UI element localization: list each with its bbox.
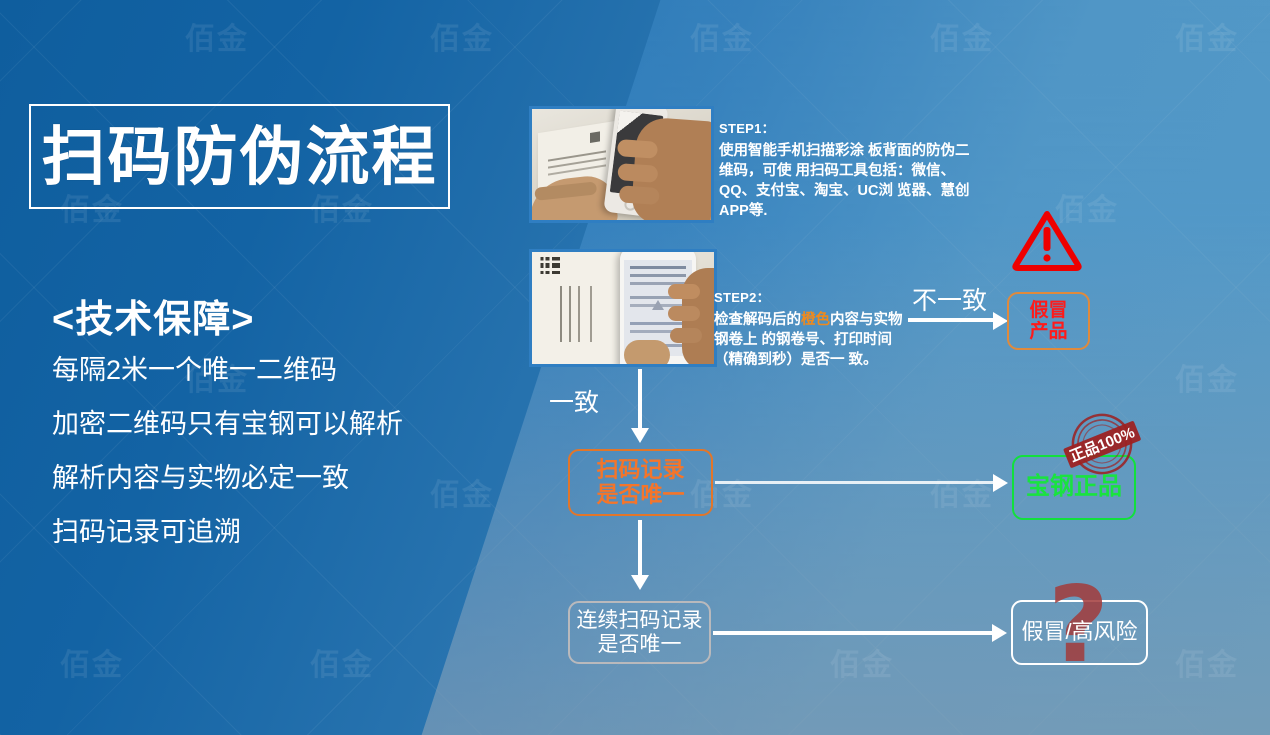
watermark: 佰金: [690, 14, 754, 58]
box-fake-line1: 假冒: [1029, 300, 1067, 321]
guarantee-heading: <技术保障>: [52, 288, 492, 343]
watermark: 佰金: [930, 470, 994, 514]
watermark: 佰金: [185, 14, 249, 58]
guarantee-bullet-3: 解析内容与实物必定一致: [52, 465, 492, 492]
box-scan-line1: 扫码记录: [596, 457, 684, 482]
page-title: 扫码防伪流程: [42, 125, 438, 189]
page-title-box: 扫码防伪流程: [29, 104, 450, 209]
watermark: 佰金: [60, 640, 124, 684]
edge-label-mismatch: 不一致: [912, 281, 987, 317]
connector-risk-arrowhead: [992, 624, 1007, 642]
genuine-100-stamp-icon: 正品100%: [1057, 410, 1147, 480]
guarantee-bullet-2: 加密二维码只有宝钢可以解析: [52, 411, 492, 438]
box-continuous-scan-unique[interactable]: 连续扫码记录是否唯一: [568, 601, 711, 664]
step2-body-highlight: 橙色: [801, 312, 830, 328]
connector-match-line: [638, 369, 642, 429]
box-fake-product[interactable]: 假冒产品: [1007, 292, 1090, 350]
box-risk-label: 假冒/高风险: [1021, 620, 1137, 645]
step1-label: STEP1：: [719, 118, 971, 137]
step2-text: STEP2： 检查解码后的橙色内容与实物钢卷上 的钢卷号、打印时间 （精确到秒）…: [714, 287, 914, 370]
connector-continuous-line: [638, 520, 642, 578]
connector-genuine-line: [715, 481, 998, 484]
connector-mismatch-line: [908, 318, 996, 322]
connector-match-arrowhead: [631, 428, 649, 443]
watermark: 佰金: [430, 14, 494, 58]
watermark: 佰金: [830, 640, 894, 684]
connector-continuous-arrowhead: [631, 575, 649, 590]
watermark: 佰金: [1175, 355, 1239, 399]
box-fake-line2: 产品: [1029, 321, 1067, 342]
step2-label: STEP2：: [714, 287, 914, 306]
watermark: 佰金: [310, 640, 374, 684]
box-continuous-line1: 连续扫码记录: [577, 609, 703, 632]
guarantee-bullet-1: 每隔2米一个唯一二维码: [52, 357, 492, 384]
watermark: 佰金: [1175, 640, 1239, 684]
box-genuine-label: 宝钢正品: [1026, 474, 1122, 501]
box-continuous-line2: 是否唯一: [598, 633, 682, 656]
connector-risk-line: [713, 631, 996, 635]
guarantee-section: <技术保障> 每隔2米一个唯一二维码 加密二维码只有宝钢可以解析 解析内容与实物…: [52, 288, 492, 573]
slide-canvas: 佰金 佰金 佰金 佰金 佰金 佰金 佰金 佰金 佰金 佰金 佰金 佰金 佰金 佰…: [0, 0, 1270, 735]
connector-mismatch-arrowhead: [993, 312, 1008, 330]
box-scan-line2: 是否唯一: [596, 482, 684, 507]
step1-body: 使用智能手机扫描彩涂 板背面的防伪二维码，可使 用扫码工具包括：微信、 QQ、支…: [719, 141, 971, 221]
warning-triangle-icon: [1012, 209, 1082, 271]
watermark: 佰金: [930, 14, 994, 58]
step2-body: 检查解码后的橙色内容与实物钢卷上 的钢卷号、打印时间 （精确到秒）是否一 致。: [714, 310, 914, 370]
guarantee-bullet-4: 扫码记录可追溯: [52, 519, 492, 546]
box-scan-record-unique[interactable]: 扫码记录是否唯一: [568, 449, 713, 516]
step1-photo: [529, 106, 714, 223]
watermark: 佰金: [1175, 14, 1239, 58]
edge-label-match: 一致: [549, 383, 599, 419]
step2-body-pre: 检查解码后的: [714, 312, 801, 328]
step1-text: STEP1： 使用智能手机扫描彩涂 板背面的防伪二维码，可使 用扫码工具包括：微…: [719, 118, 971, 221]
connector-genuine-arrowhead: [993, 474, 1008, 492]
step2-photo: [529, 249, 717, 367]
